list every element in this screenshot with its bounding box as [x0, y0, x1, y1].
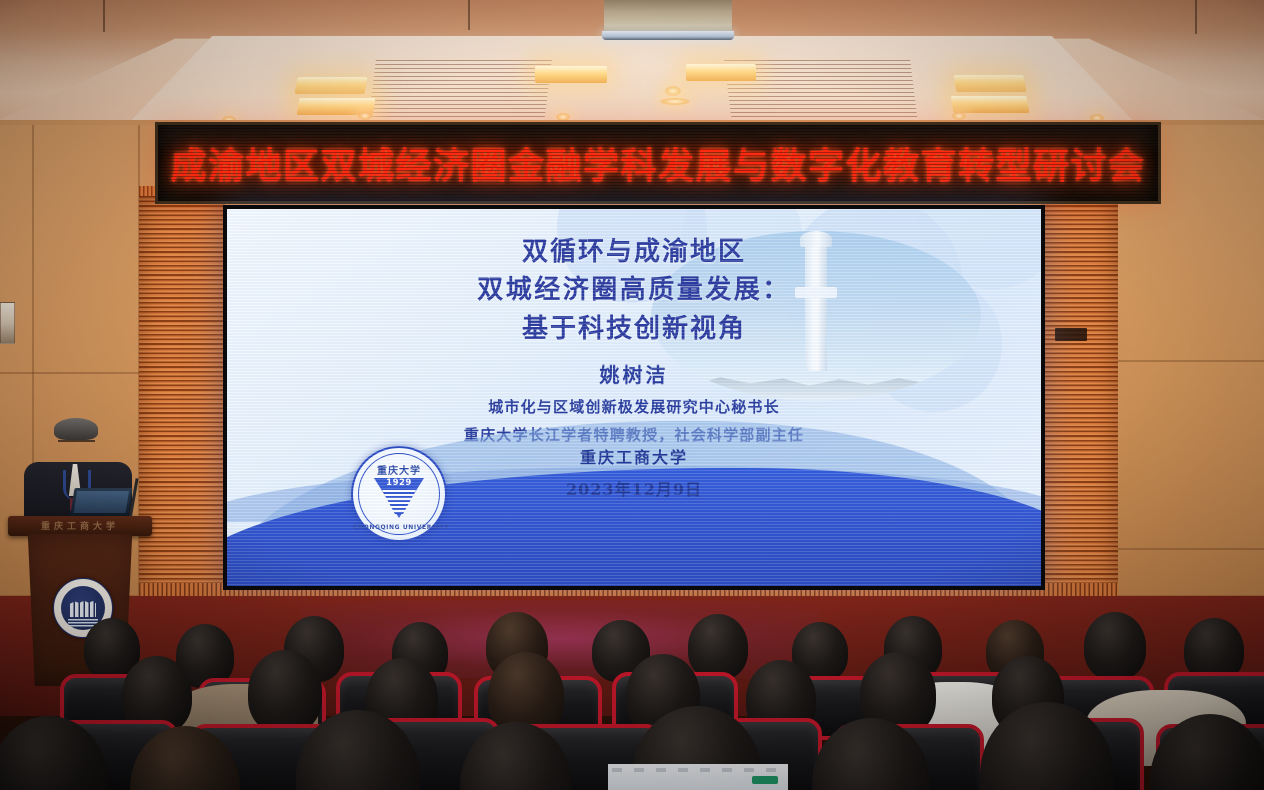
ceiling-light-panel: [295, 77, 368, 94]
presentation-date: 2023年12月9日: [227, 476, 1041, 500]
chongqing-university-logo: 重庆大学 1929 CHONGQING UNIVERSITY: [351, 446, 447, 542]
slide-title-line3: 基于科技创新视角: [227, 310, 1041, 348]
presentation-slide: 双循环与成渝地区 双城经济圈高质量发展： 基于科技创新视角 姚树洁 城市化与区域…: [227, 209, 1041, 586]
audience-area: [0, 598, 1264, 790]
speaker-name: 姚树洁: [227, 359, 1041, 388]
ceiling-projector: [604, 0, 732, 33]
wall-panel-seam: [1115, 548, 1264, 550]
wall-panel-seam: [1115, 360, 1264, 362]
slide-title-line2: 双城经济圈高质量发展：: [227, 271, 1041, 309]
audience-member: [1084, 612, 1146, 680]
ceiling-downlight: [358, 112, 372, 120]
ceiling-downlight: [952, 112, 966, 120]
laptop-status-badge: [752, 776, 778, 784]
slide-footer: 重庆工商大学 2023年12月9日: [227, 444, 1041, 500]
led-banner: 成渝地区双城经济圈金融学科发展与数字化教育转型研讨会: [155, 122, 1161, 204]
ceiling-light-panel: [535, 66, 607, 83]
laptop-toolbar: [612, 768, 784, 772]
audience-member: [688, 614, 748, 680]
ceiling-downlight: [665, 86, 681, 96]
wall-control-panel[interactable]: [0, 302, 15, 344]
speaker-role-primary: 城市化与区域创新极发展研究中心秘书长: [227, 396, 1041, 417]
logo-name-cn: 重庆大学: [377, 462, 421, 477]
wood-slat-panel-right: [1041, 196, 1118, 596]
ceiling-light-panel: [954, 75, 1027, 92]
glasses-icon: [58, 440, 95, 450]
conference-hall-photo: 成渝地区双城经济圈金融学科发展与数字化教育转型研讨会 双循环与成渝地区 双城经济…: [0, 0, 1264, 790]
ceiling-light-panel: [686, 64, 756, 81]
ceiling-hanger-rod: [1195, 0, 1197, 34]
projection-screen: 双循环与成渝地区 双城经济圈高质量发展： 基于科技创新视角 姚树洁 城市化与区域…: [223, 205, 1045, 590]
wall-vent: [1055, 328, 1087, 341]
podium-engraved-text: 重庆工商大学: [18, 519, 142, 532]
led-banner-text: 成渝地区双城经济圈金融学科发展与数字化教育转型研讨会: [170, 137, 1145, 189]
ceiling-light-panel: [951, 96, 1030, 113]
ceiling-acoustic-slats-left: [368, 60, 552, 122]
slide-title: 双循环与成渝地区 双城经济圈高质量发展： 基于科技创新视角: [227, 233, 1041, 348]
presenter-hair: [54, 418, 98, 440]
ceiling-hanger-rod: [468, 0, 470, 30]
logo-name-en: CHONGQING UNIVERSITY: [353, 524, 445, 531]
audience-member: [248, 650, 322, 734]
ceiling-hanger-rod: [103, 0, 105, 32]
slide-title-line1: 双循环与成渝地区: [227, 233, 1041, 271]
ceiling-spotlight-bar: [660, 98, 690, 105]
host-organization: 重庆工商大学: [227, 444, 1041, 468]
logo-year: 1929: [386, 478, 412, 488]
podium-laptop-screen: [74, 491, 129, 513]
projector-lens: [602, 31, 734, 40]
